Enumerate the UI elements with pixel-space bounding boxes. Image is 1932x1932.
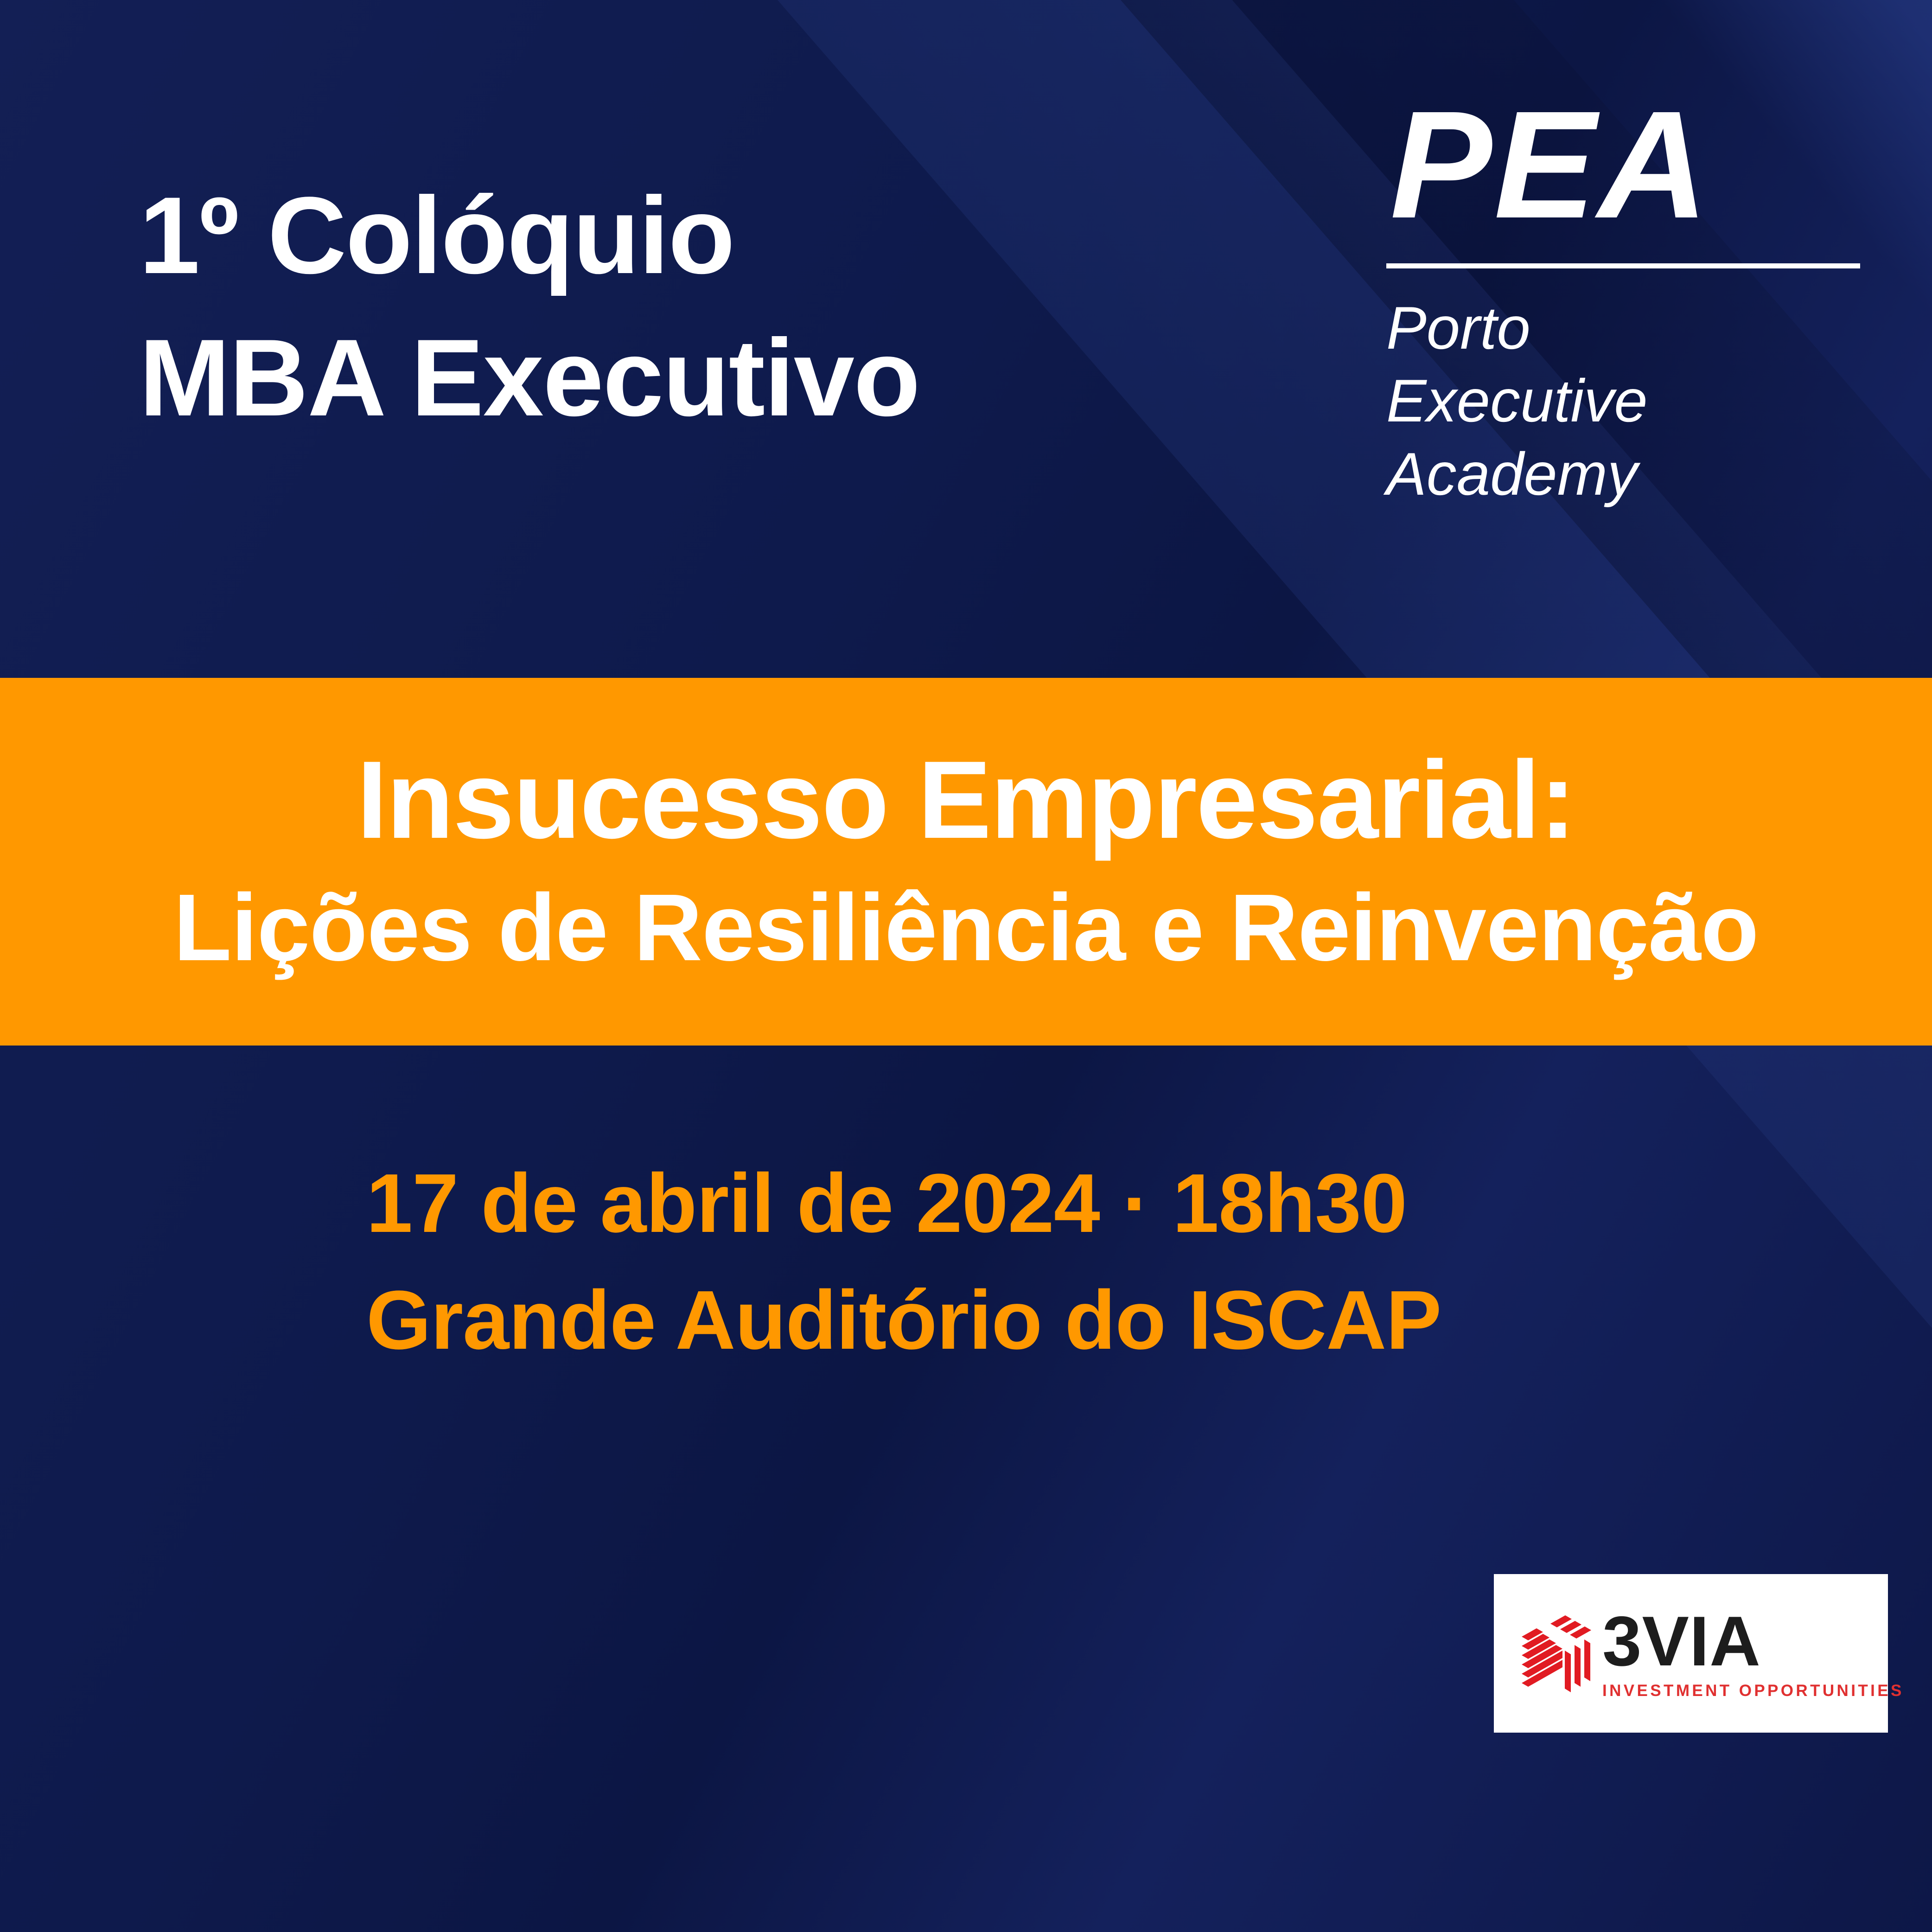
- event-datetime: 17 de abril de 2024 · 18h30: [366, 1145, 1441, 1262]
- event-title-line-1: 1º Colóquio: [139, 165, 919, 307]
- pea-logo: PEA Porto Executive Academy: [1386, 88, 1864, 510]
- pea-divider-rule: [1386, 263, 1860, 268]
- pea-subtitle-line-3: Academy: [1386, 438, 1864, 510]
- theme-headline: Insucesso Empresarial:: [357, 739, 1575, 862]
- event-poster: 1º Colóquio MBA Executivo PEA Porto Exec…: [0, 0, 1932, 1932]
- pea-wordmark: PEA: [1390, 88, 1864, 241]
- pea-logo-subtitle: Porto Executive Academy: [1386, 292, 1864, 510]
- sponsor-text-block: 3VIA INVESTMENT OPPORTUNITIES: [1602, 1608, 1904, 1698]
- event-details: 17 de abril de 2024 · 18h30 Grande Audit…: [366, 1145, 1441, 1379]
- sponsor-tagline: INVESTMENT OPPORTUNITIES: [1602, 1683, 1904, 1699]
- theme-banner: Insucesso Empresarial: Lições de Resiliê…: [0, 678, 1932, 1046]
- theme-subheadline: Lições de Resiliência e Reinvenção: [173, 871, 1758, 985]
- sponsor-logo-card: 3VIA INVESTMENT OPPORTUNITIES: [1494, 1574, 1888, 1733]
- event-title-line-2: MBA Executivo: [139, 307, 919, 449]
- pea-subtitle-line-2: Executive: [1386, 364, 1864, 437]
- sponsor-name: 3VIA: [1602, 1608, 1904, 1675]
- event-venue: Grande Auditório do ISCAP: [366, 1262, 1441, 1379]
- 3via-cube-icon: [1516, 1608, 1594, 1699]
- page-title: 1º Colóquio MBA Executivo: [139, 165, 919, 449]
- pea-subtitle-line-1: Porto: [1386, 292, 1864, 364]
